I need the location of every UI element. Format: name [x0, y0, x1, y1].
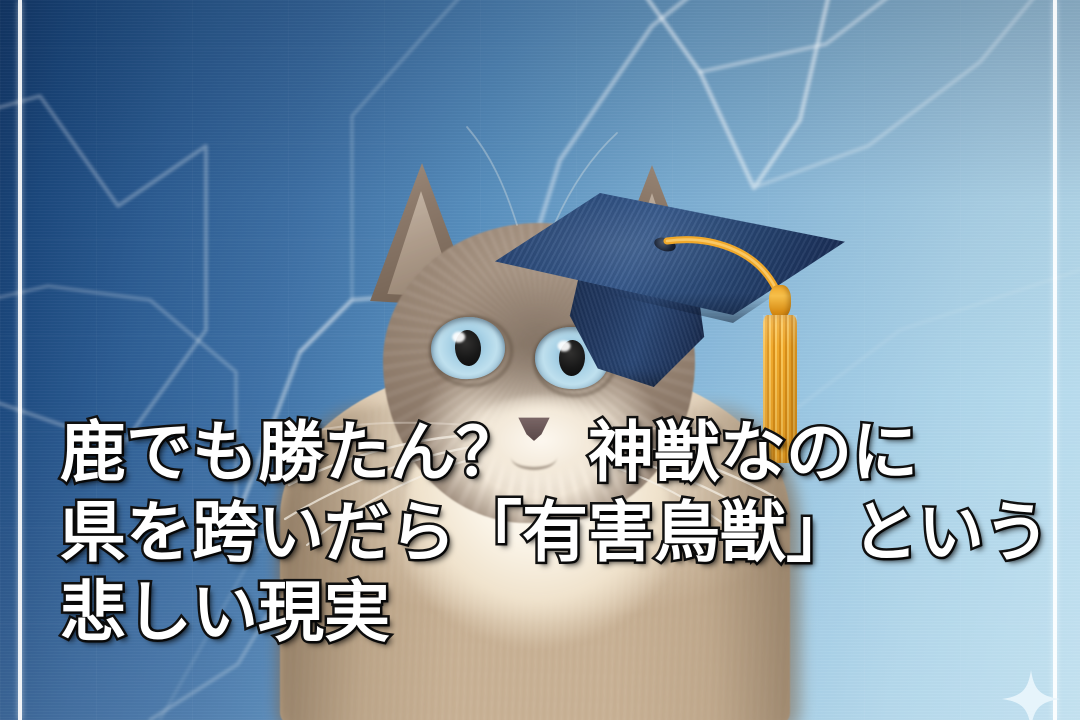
left-vertical-rule — [18, 0, 22, 720]
headline-line-2: 県を跨いだら「有害鳥獣」という — [60, 492, 1050, 572]
graduation-cap — [495, 167, 865, 437]
cap-tassel-cord — [663, 235, 787, 297]
headline-line-1: 鹿でも勝たん？ 神獣なのに — [60, 412, 1050, 492]
right-vertical-rule — [1053, 0, 1057, 720]
cap-tassel-knot — [769, 285, 791, 319]
headline-text-block: 鹿でも勝たん？ 神獣なのに 県を跨いだら「有害鳥獣」という 悲しい現実 — [60, 412, 1050, 652]
thumbnail-canvas: 鹿でも勝たん？ 神獣なのに 県を跨いだら「有害鳥獣」という 悲しい現実 — [0, 0, 1080, 720]
headline-line-3: 悲しい現実 — [60, 572, 1050, 652]
